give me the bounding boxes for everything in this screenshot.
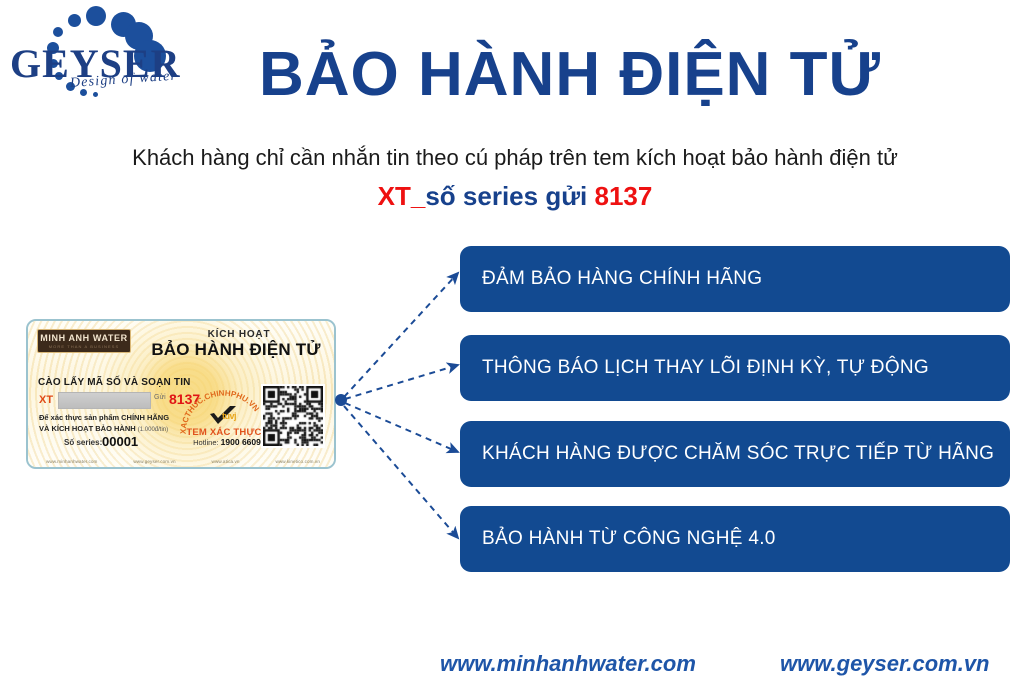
page-title: BẢO HÀNH ĐIỆN TỬ (0, 42, 1030, 107)
footer-site-geyser[interactable]: www.geyser.com.vn (780, 651, 990, 677)
sticker-footer-links: www.minhanhwater.com www.geyser.com.vn w… (28, 459, 336, 464)
warranty-sticker-card: MINH ANH WATER MORE THAN A BUSINESS KÍCH… (26, 319, 336, 469)
sticker-line1: Để xác thực sản phẩm CHÍNH HÃNG (39, 413, 169, 422)
qr-code-canvas (263, 386, 323, 446)
syntax-prefix: XT_ (378, 181, 426, 211)
sticker-brand-sub: MORE THAN A BUSINESS (49, 345, 120, 349)
scratch-off-area (58, 392, 151, 409)
arrow-to-feature-1 (344, 273, 458, 397)
feature-box-1-label: ĐẢM BẢO HÀNG CHÍNH HÃNG (482, 268, 762, 290)
syntax-code: 8137 (594, 181, 652, 211)
seal-tick-text: tuvj (222, 411, 236, 421)
sticker-line2: VÀ KÍCH HOẠT BẢO HÀNH (1.000đ/tin) (39, 424, 168, 433)
sticker-footer-link: www.geyser.com.vn (133, 459, 175, 464)
logo-bubble (86, 6, 106, 26)
sticker-brand-box: MINH ANH WATER MORE THAN A BUSINESS (37, 329, 131, 353)
sticker-instruction: CÀO LẤY MÃ SỐ VÀ SOẠN TIN (38, 377, 191, 388)
feature-box-3-label: KHÁCH HÀNG ĐƯỢC CHĂM SÓC TRỰC TIẾP TỪ HÃ… (482, 443, 994, 465)
arrow-to-feature-2 (345, 365, 458, 399)
logo-bubble (53, 27, 63, 37)
footer-site-minhanhwater[interactable]: www.minhanhwater.com (440, 651, 696, 677)
logo-bubble (68, 14, 81, 27)
feature-box-1[interactable]: ĐẢM BẢO HÀNG CHÍNH HÃNG (460, 246, 1010, 312)
sticker-title: BẢO HÀNH ĐIỆN TỬ (140, 340, 332, 360)
connector-arrows (330, 240, 475, 560)
sticker-footer-link: www.kinetico.com.vn (275, 459, 320, 464)
arrow-to-feature-3 (345, 403, 458, 452)
qr-code (261, 384, 325, 448)
feature-box-4-label: BẢO HÀNH TỪ CÔNG NGHỆ 4.0 (482, 528, 776, 550)
sticker-line2-text: VÀ KÍCH HOẠT BẢO HÀNH (39, 424, 136, 433)
sticker-kich-hoat-label: KÍCH HOẠT (148, 329, 330, 340)
sticker-line2-note: (1.000đ/tin) (138, 427, 168, 433)
hotline-number: 1900 6609 (221, 437, 261, 447)
syntax-middle: số series gửi (425, 181, 594, 211)
sms-syntax-line: XT_số series gửi 8137 (0, 181, 1030, 212)
page-subtitle: Khách hàng chỉ cần nhắn tin theo cú pháp… (0, 145, 1030, 171)
arrow-to-feature-4 (344, 406, 458, 538)
sticker-series-label: Số series: (64, 438, 102, 447)
feature-box-4[interactable]: BẢO HÀNH TỪ CÔNG NGHỆ 4.0 (460, 506, 1010, 572)
feature-box-2[interactable]: THÔNG BÁO LỊCH THAY LÕI ĐỊNH KỲ, TỰ ĐỘNG (460, 335, 1010, 401)
sticker-prefix: XT (39, 394, 53, 406)
sticker-brand-name: MINH ANH WATER (40, 334, 127, 343)
sticker-send-label: Gửi (154, 394, 166, 401)
feature-box-2-label: THÔNG BÁO LỊCH THAY LÕI ĐỊNH KỲ, TỰ ĐỘNG (482, 357, 929, 379)
sticker-series-value: 00001 (102, 434, 138, 449)
sticker-footer-link: www.minhanhwater.com (46, 459, 98, 464)
feature-box-3[interactable]: KHÁCH HÀNG ĐƯỢC CHĂM SÓC TRỰC TIẾP TỪ HÃ… (460, 421, 1010, 487)
hotline-label: Hotline: (193, 438, 218, 447)
sticker-footer-link: www.atica.vn (212, 459, 240, 464)
